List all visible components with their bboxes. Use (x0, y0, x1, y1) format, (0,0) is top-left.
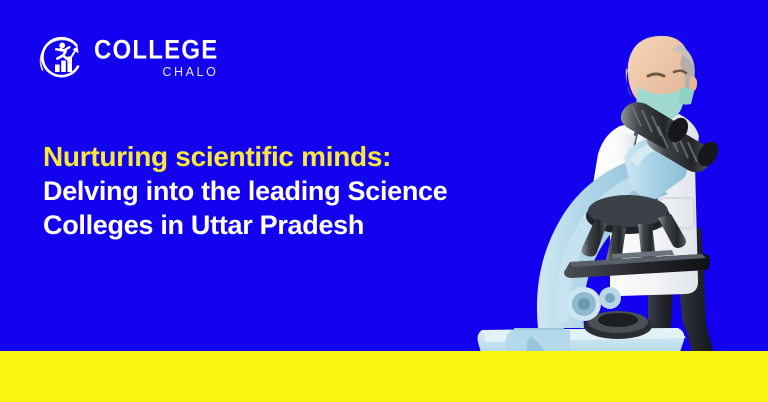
logo-word-chalo: CHALO (94, 66, 218, 79)
site-logo[interactable]: COLLEGE CHALO (36, 33, 218, 83)
scientist-with-microscope-illustration (452, 30, 768, 375)
college-chalo-runner-bars-icon (36, 33, 86, 83)
logo-wordmark: COLLEGE CHALO (94, 37, 218, 79)
bottom-accent-bar (0, 351, 768, 402)
logo-word-college: COLLEGE (94, 37, 218, 64)
promo-banner: COLLEGE CHALO Nurturing scientific minds… (0, 0, 768, 402)
